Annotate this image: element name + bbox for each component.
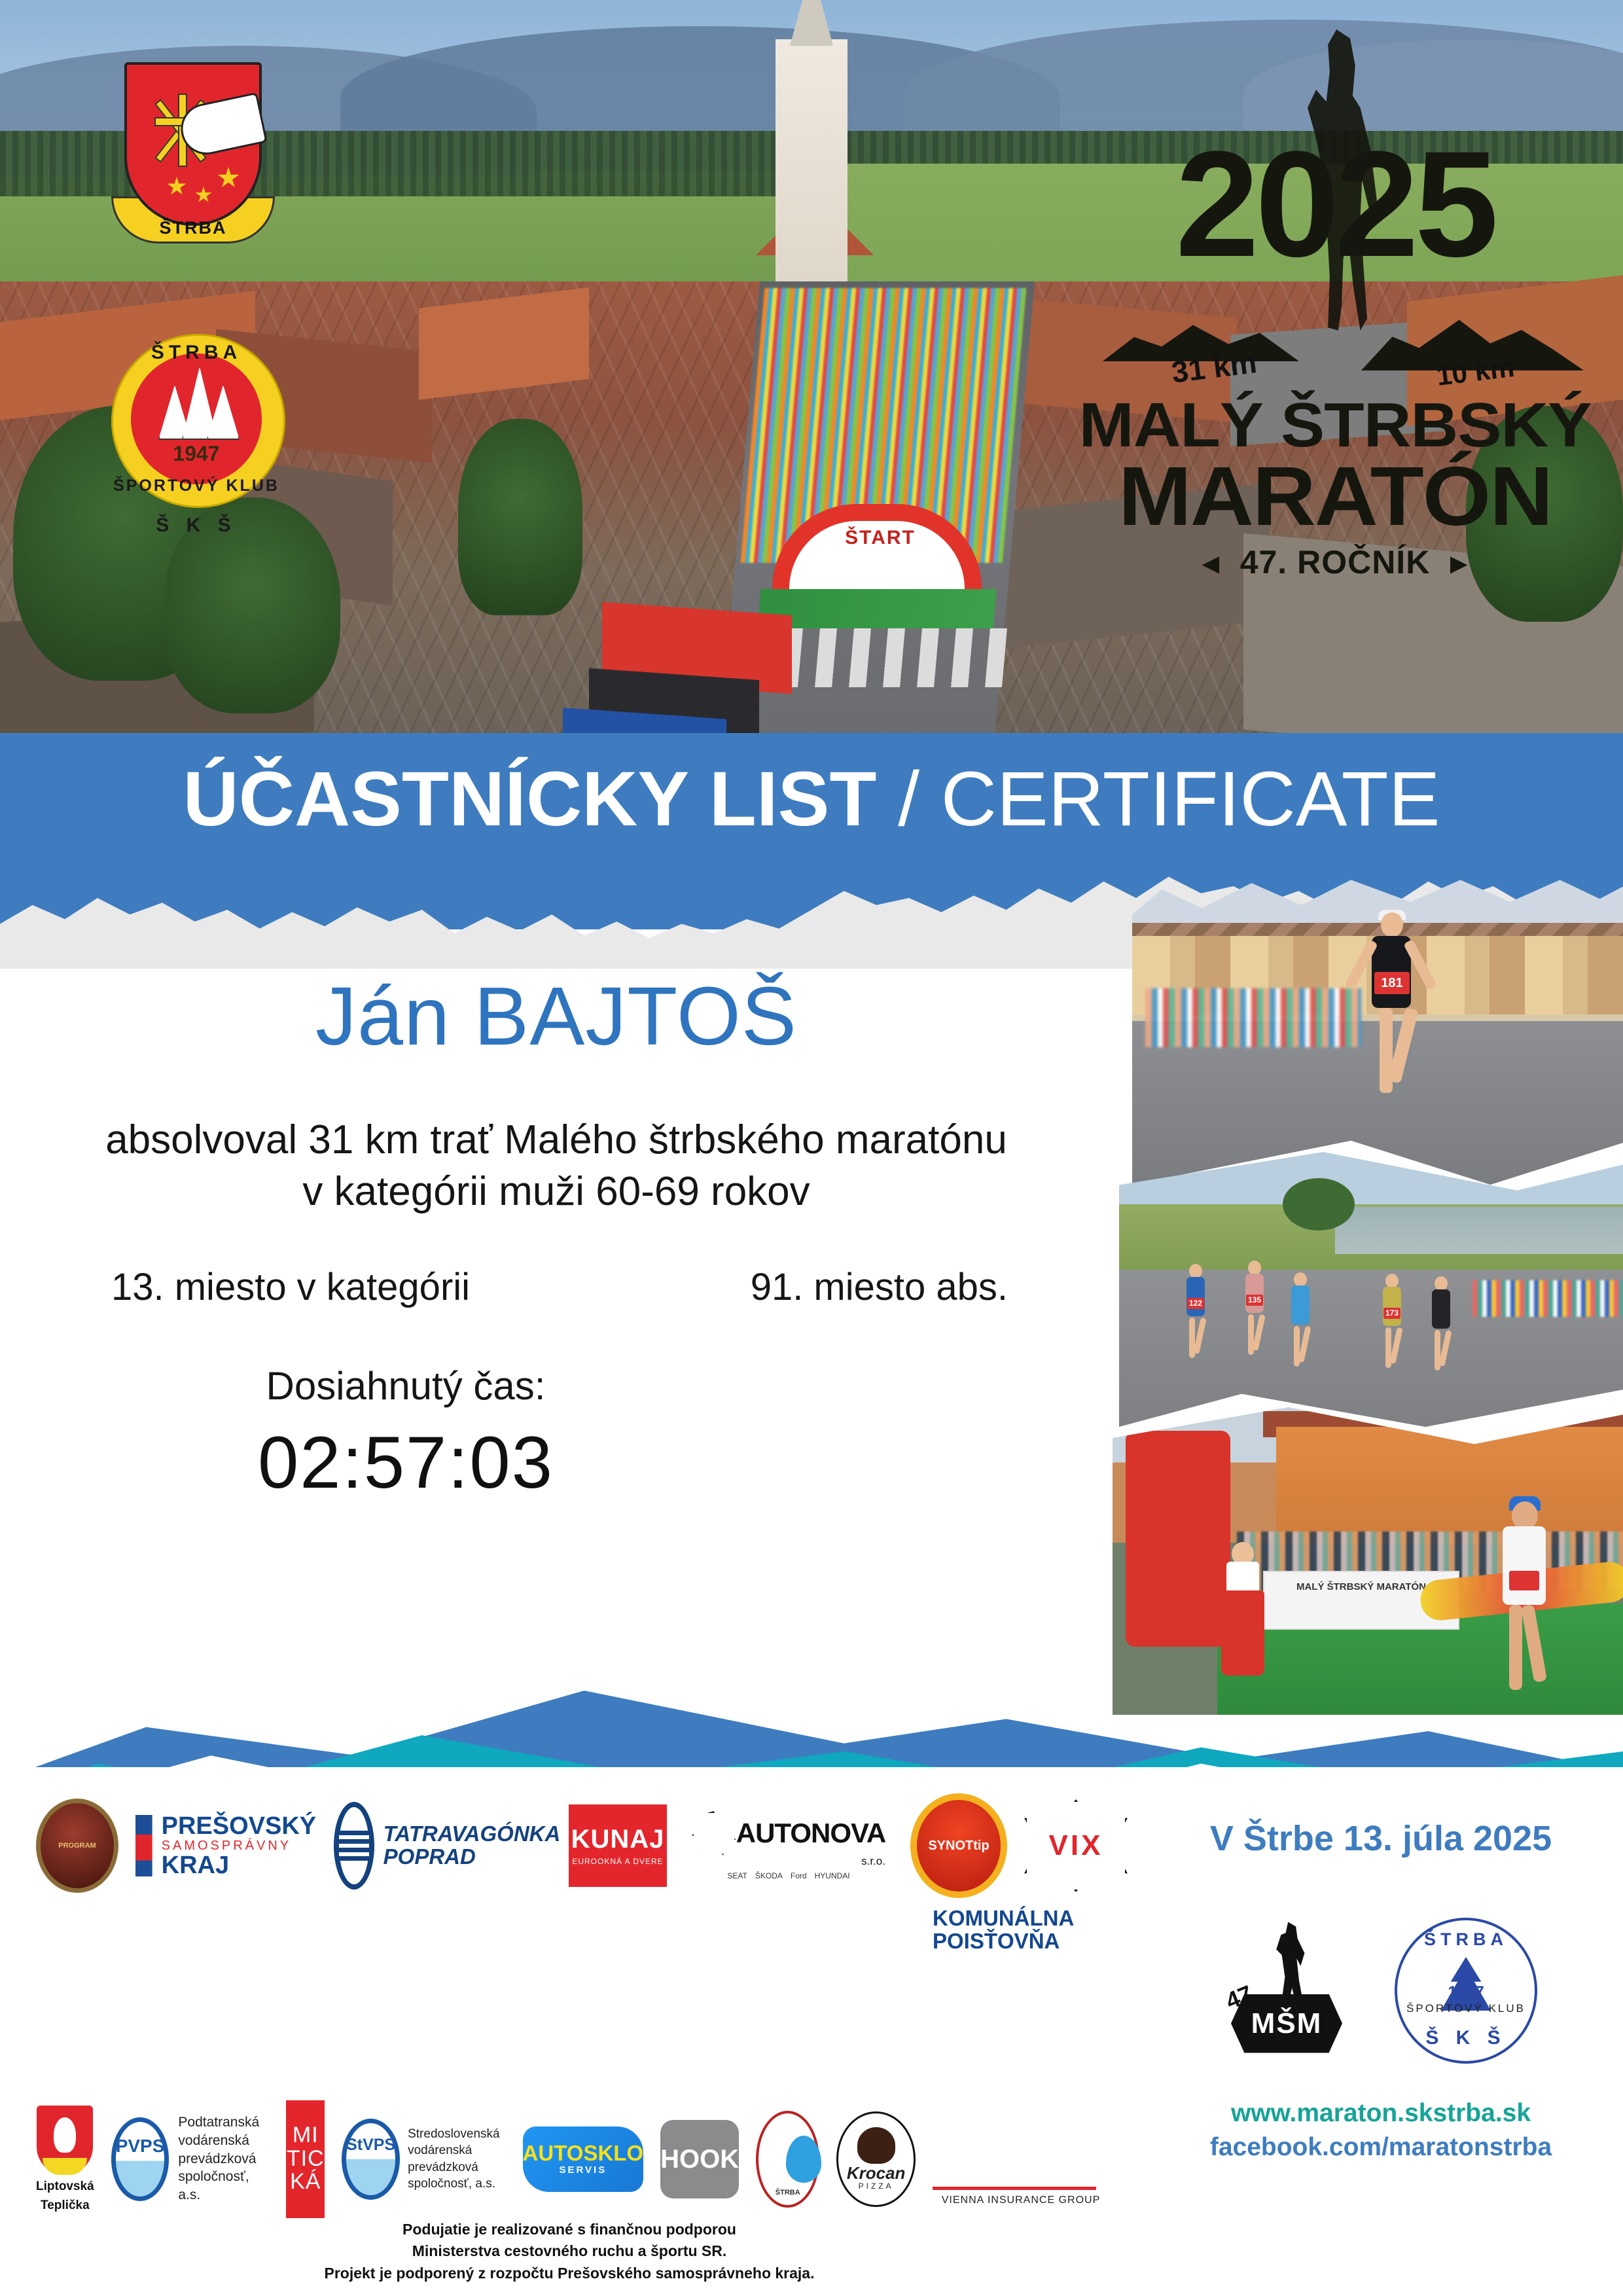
runner-leg <box>1193 1318 1206 1355</box>
sponsor-label: ŠTRBA <box>758 2189 817 2197</box>
support-line-1: Podujatie je realizované s finančnou pod… <box>59 2219 1080 2240</box>
footer: PROGRAM PREŠOVSKÝ SAMOSPRÁVNY KRAJ TATRA… <box>0 1767 1623 2296</box>
sponsor-label: KUNAJ <box>571 1825 665 1854</box>
runner-bib-number: 173 <box>1383 1308 1400 1319</box>
sponsor-label: MI TIC KÁ <box>286 2124 325 2194</box>
runner-torso <box>1291 1285 1310 1325</box>
event-edition: ◄47. ROČNÍK► <box>1060 543 1610 581</box>
photo-runners-on-hill: 122 135 173 <box>1119 1152 1623 1427</box>
runner-torso <box>1383 1287 1401 1326</box>
place-in-category: 13. miesto v kategórii <box>111 1265 470 1309</box>
sponsor-label: PREŠOVSKÝ <box>162 1812 317 1840</box>
runner-leg <box>1389 1327 1402 1365</box>
issue-date: V Štrbe 13. júla 2025 <box>1152 1818 1610 1859</box>
finish-time-value: 02:57:03 <box>0 1420 811 1505</box>
presov-mark-icon <box>135 1815 152 1876</box>
sponsor-hook[interactable]: HOOK <box>660 2120 739 2198</box>
sks-stamp-icon: ŠTRBA 1947 ŠPORTOVÝ KLUB Š K Š <box>1395 1918 1537 2064</box>
runner-figure: 173 <box>1378 1270 1405 1374</box>
msm-abbrev: MŠM <box>1231 1994 1342 2053</box>
runner-bib-number: 122 <box>1187 1298 1204 1309</box>
sponsor-label: Stredoslovenská vodárenská <box>408 2127 499 2157</box>
sponsor-label: AUTOSKLO <box>523 2142 644 2165</box>
divider <box>933 2187 1096 2190</box>
pvps-mark-icon: PVPS <box>111 2117 169 2201</box>
club-abbrev: Š K Š <box>98 514 294 537</box>
strba-town-crest-icon: ŠTRBA <box>111 62 275 259</box>
sponsor-label: KOMUNÁLNA POISŤOVŇA <box>933 1907 1149 2182</box>
sponsor-label: Podtatranská vodárenská <box>178 2115 259 2148</box>
runner-head <box>1248 1261 1261 1275</box>
sponsor-label: Teplička <box>41 2199 90 2213</box>
runner-head <box>1381 912 1403 937</box>
sponsor-label: Krocan <box>847 2164 906 2183</box>
runner-figure <box>1286 1268 1313 1373</box>
sponsor-label: prevádzková spoločnosť, a.s. <box>178 2151 256 2202</box>
photo-finish-arch <box>1126 1431 1230 1647</box>
sponsor-sublabel: EUROOKNÁ A DVERE <box>572 1857 663 1866</box>
sponsor-stvps[interactable]: StVPS Stredoslovenská vodárenská prevádz… <box>342 2119 505 2200</box>
sponsor-label: prevádzková spoločnosť, a.s. <box>408 2161 495 2191</box>
winner-torso <box>1503 1526 1546 1605</box>
sponsor-label: POPRAD <box>383 1844 476 1869</box>
tatravagonka-mark-icon <box>334 1802 374 1890</box>
sponsor-sublabel: SERVIS <box>559 2165 607 2176</box>
club-top-text: ŠTRBA <box>111 342 281 364</box>
certificate-description: absolvoval 31 km trať Malého štrbského m… <box>0 1114 1113 1218</box>
autonova-brands: SEAT ŠKODA Ford HYUNDAI <box>727 1872 849 1880</box>
runner-leg <box>1298 1326 1311 1363</box>
sponsor-sublabel: s.r.o. <box>861 1856 885 1868</box>
sponsor-tatravagonka[interactable]: TATRAVAGÓNKA POPRAD <box>342 1802 552 1890</box>
place-absolute: 91. miesto abs. <box>751 1265 1008 1309</box>
runner-leg <box>1438 1330 1452 1367</box>
sponsor-presovsky-kraj[interactable]: PREŠOVSKÝ SAMOSPRÁVNY KRAJ <box>135 1814 325 1878</box>
sks-bottom-text: Š K Š <box>1397 2027 1535 2049</box>
brand-label: Ford <box>791 1872 807 1880</box>
facebook-link[interactable]: facebook.com/maratonstrba <box>1152 2133 1610 2162</box>
brand-label: ŠKODA <box>755 1872 783 1880</box>
tree <box>458 419 582 615</box>
brand-label: HYUNDAI <box>815 1872 850 1880</box>
woman-runner-figure: 181 <box>1348 910 1433 1132</box>
runner-pack <box>1472 1280 1623 1317</box>
autonova-burst-icon <box>692 1811 736 1856</box>
arrow-right-icon: ► <box>1430 548 1488 580</box>
sponsor-kunaj[interactable]: KUNAJ EUROOKNÁ A DVERE <box>569 1804 667 1887</box>
sponsor-sublabel: PIZZA <box>859 2182 894 2191</box>
liptovska-crest-icon <box>37 2106 93 2175</box>
photo-valley-view <box>1335 1207 1623 1254</box>
church-tower <box>776 39 847 314</box>
sponsor-polnohospodarske-druzstvo[interactable]: ŠTRBA <box>756 2111 819 2208</box>
participant-name: Ján BAJTOŠ <box>0 975 1113 1058</box>
sponsor-label: HOOK <box>660 2145 739 2174</box>
sponsor-miticka[interactable]: MI TIC KÁ <box>286 2100 325 2218</box>
sponsor-liptovska-teplicka[interactable]: Liptovská Teplička <box>36 2106 94 2213</box>
distances-row: 31 km 10 km <box>1067 308 1603 380</box>
runner-head <box>1294 1272 1307 1287</box>
sks-top-text: ŠTRBA <box>1397 1929 1535 1950</box>
sponsor-vix[interactable]: VIX <box>1024 1799 1128 1892</box>
sponsor-autosklo[interactable]: AUTOSKLO SERVIS <box>523 2126 644 2192</box>
sponsor-label: VIX <box>1049 1830 1103 1861</box>
water-drop-icon <box>786 2136 821 2183</box>
turkey-icon <box>857 2127 895 2164</box>
banner-title-separator: / <box>876 756 940 842</box>
time-label: Dosiahnutý čas: <box>0 1363 811 1408</box>
runner-head <box>1385 1274 1399 1288</box>
banner-title-en: CERTIFICATE <box>941 756 1440 842</box>
funding-support-note: Podujatie je realizované s finančnou pod… <box>59 2219 1080 2284</box>
arrow-left-icon: ◄ <box>1182 548 1240 580</box>
sponsor-label: KRAJ <box>162 1852 229 1879</box>
runner-bib-number: 135 <box>1246 1295 1263 1306</box>
runner-torso <box>1186 1277 1205 1316</box>
sponsor-label: AUTONOVA <box>736 1818 885 1848</box>
description-line-2: v kategórii muži 60-69 rokov <box>0 1166 1113 1217</box>
mountain-peaks-icon <box>152 367 241 439</box>
runner-figure: 135 <box>1240 1257 1268 1361</box>
description-line-1: absolvoval 31 km trať Malého štrbského m… <box>0 1114 1113 1166</box>
sponsor-row: PROGRAM PREŠOVSKÝ SAMOSPRÁVNY KRAJ TATRA… <box>36 1793 1142 1898</box>
runner-head <box>1189 1264 1202 1278</box>
support-line-3: Projekt je podporený z rozpočtu Prešovsk… <box>59 2263 1080 2284</box>
certificate-content: Ján BAJTOŠ absolvoval 31 km trať Malého … <box>0 975 1113 1505</box>
sponsor-pvps[interactable]: PVPS Podtatranská vodárenská prevádzková… <box>111 2113 270 2204</box>
sks-mid-text: ŠPORTOVÝ KLUB <box>1397 2003 1535 2015</box>
event-logo-block: 2025 31 km 10 km MALÝ ŠTRBSKÝ MARATÓN ◄4… <box>1060 26 1610 615</box>
runner-figure <box>1427 1272 1454 1377</box>
sponsor-label: Liptovská <box>36 2180 94 2194</box>
footer-right-column: V Štrbe 13. júla 2025 47. MŠM ŠTRBA 1947… <box>1152 1787 1610 2162</box>
sponsor-label: SYNOTtip <box>928 1839 989 1853</box>
edition-label: 47. ROČNÍK <box>1240 544 1431 581</box>
certificate-page: ŠTART ŠTRBA ŠTRBA 1 <box>0 0 1623 2296</box>
runner-torso <box>1432 1289 1450 1329</box>
photo-woman-finishing: 181 <box>1132 870 1623 1185</box>
sports-club-logo-icon: ŠTRBA 1947 ŠPORTOVÝ KLUB Š K Š <box>92 327 301 576</box>
photo-tree <box>1283 1178 1355 1230</box>
support-line-2: Ministerstva cestovného ruchu a športu S… <box>59 2240 1080 2262</box>
crest-town-name: ŠTRBA <box>111 218 275 238</box>
sponsor-label: SAMOSPRÁVNY <box>162 1839 291 1853</box>
runner-figure: 122 <box>1181 1260 1209 1365</box>
sponsor-autonova[interactable]: AUTONOVA s.r.o. SEAT ŠKODA Ford HYUNDAI <box>684 1811 893 1880</box>
website-link[interactable]: www.maraton.skstrba.sk <box>1152 2099 1610 2128</box>
runner-head <box>1435 1276 1448 1291</box>
footer-emblems: 47. MŠM ŠTRBA 1947 ŠPORTOVÝ KLUB Š K Š <box>1152 1918 1610 2064</box>
sponsor-label: TATRAVAGÓNKA <box>383 1821 561 1846</box>
sponsor-krocan-pizza[interactable]: Krocan PIZZA <box>836 2111 916 2207</box>
sponsor-program-trencin[interactable]: PROGRAM <box>36 1799 118 1893</box>
msm-emblem-icon: 47. MŠM <box>1224 1922 1349 2060</box>
sponsor-synot-tip[interactable]: SYNOTtip <box>910 1793 1007 1898</box>
runner-torso <box>1245 1274 1264 1313</box>
winner-bib <box>1509 1571 1539 1590</box>
banner-title-sk: ÚČASTNÍCKY LIST <box>183 756 877 842</box>
stvps-mark-icon: StVPS <box>342 2119 400 2200</box>
event-title-line2: MARATÓN <box>1046 448 1623 545</box>
start-arch-label: ŠTART <box>811 527 949 549</box>
photo-collage: 181 122 135 <box>1113 870 1623 1715</box>
start-mat <box>757 589 996 628</box>
photo-spectators <box>1145 988 1361 1047</box>
runner-leg <box>1252 1314 1265 1352</box>
placement-row: 13. miesto v kategórii 91. miesto abs. <box>0 1265 1113 1318</box>
sponsor-label: PROGRAM <box>58 1842 96 1850</box>
runner-bib-number: 181 <box>1374 972 1410 994</box>
banner-title: ÚČASTNÍCKY LIST / CERTIFICATE <box>0 761 1623 838</box>
peak <box>207 385 240 440</box>
brand-label: SEAT <box>727 1872 747 1880</box>
sks-year: 1947 <box>1397 1983 1535 2002</box>
club-founded-year: 1947 <box>131 442 262 466</box>
club-bottom-text: ŠPORTOVÝ KLUB <box>98 476 294 495</box>
